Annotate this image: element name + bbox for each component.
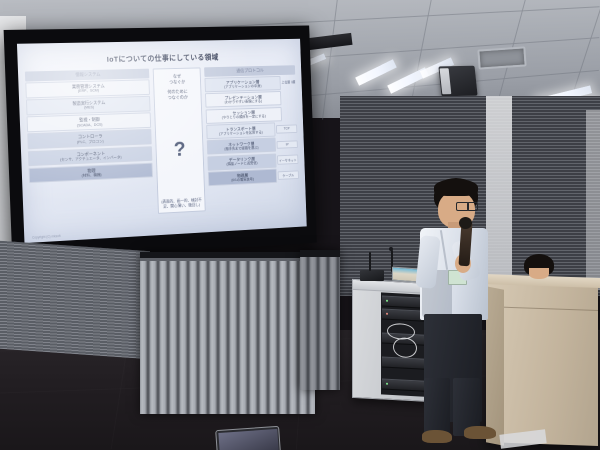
osi-row: アプリケーション層 (アプリケーションの中身) 上位層 3層 bbox=[204, 76, 295, 93]
ceiling-air-vent bbox=[477, 46, 526, 69]
osi-layer-desc: (アプリケーションの中身) bbox=[207, 83, 279, 89]
partition-header-track bbox=[300, 250, 340, 257]
osi-layer: データリンク層 (隣接ノードと送受信) bbox=[207, 153, 276, 170]
slide-middle-column: なぜ つなぐか 何のために つなぐのか ? (表面的、画一的、検討不足、関心薄い… bbox=[153, 67, 206, 213]
left-row: 物理 (材料、機器) bbox=[29, 162, 153, 183]
left-row: 業務管理システム (ERP、SCM) bbox=[25, 79, 150, 98]
middle-line-4: つなぐのか bbox=[168, 95, 188, 101]
middle-question-box: なぜ つなぐか 何のために つなぐのか ? (表面的、画一的、検討不足、関心薄い… bbox=[153, 67, 206, 213]
osi-protocol-tag: TCP bbox=[276, 125, 297, 134]
osi-layer: プレゼンテーション層 (わかりやすい表現にする) bbox=[205, 91, 281, 108]
seated-person bbox=[520, 254, 560, 284]
osi-brace-label: 上位層 3層 bbox=[281, 81, 295, 85]
rack-antenna-knob bbox=[389, 247, 393, 251]
left-row-sub: (ERP、SCM) bbox=[28, 87, 148, 95]
osi-protocol-tag: イーサネット bbox=[277, 155, 298, 165]
laptop-screen bbox=[218, 428, 278, 450]
projection-screen-surface: IoTについての仕事にしている領域 情報システム 業務管理システム (ERP、S… bbox=[17, 39, 307, 243]
osi-stack: 通信プロトコル アプリケーション層 (アプリケーションの中身) 上位層 3層 bbox=[204, 65, 300, 211]
slide-body: 情報システム 業務管理システム (ERP、SCM) 製造実行システム (MES)… bbox=[25, 65, 300, 221]
osi-layer-desc: (隣接ノードと送受信) bbox=[209, 161, 274, 168]
osi-layer-desc: (アプリケーションを区別する) bbox=[208, 130, 273, 137]
osi-layer: ネットワーク層 (相手先まで経路を選ぶ) bbox=[207, 138, 276, 155]
seated-person-head bbox=[529, 268, 549, 279]
glasses-icon bbox=[467, 202, 478, 211]
osi-layer: セッション層 (やりとりの順序を一定にする) bbox=[206, 107, 282, 124]
question-mark-icon: ? bbox=[173, 139, 186, 160]
osi-layer-desc: (相手先まで経路を選ぶ) bbox=[209, 145, 274, 152]
presenter-shoe bbox=[464, 426, 496, 439]
rack-antenna bbox=[369, 252, 371, 271]
osi-layer-desc: (0/1の電気信号) bbox=[210, 176, 275, 183]
partition-slats bbox=[300, 257, 340, 390]
speaker-face bbox=[440, 68, 452, 94]
middle-line-2: つなぐか bbox=[167, 79, 187, 85]
ceiling-speaker bbox=[438, 66, 477, 96]
slide-footer: Copyright (C) mksoft bbox=[32, 234, 61, 240]
slide-right-column: 通信プロトコル アプリケーション層 (アプリケーションの中身) 上位層 3層 bbox=[204, 65, 300, 211]
wall-right-edge bbox=[586, 110, 600, 290]
osi-layer: アプリケーション層 (アプリケーションの中身) bbox=[204, 76, 280, 92]
accordion-partition-wall[interactable] bbox=[140, 252, 315, 414]
rack-top-device[interactable] bbox=[360, 270, 384, 281]
middle-note: (表面的、画一的、検討不足、関心薄い、後回し) bbox=[160, 197, 203, 209]
presentation-photo-scene: IoTについての仕事にしている領域 情報システム 業務管理システム (ERP、S… bbox=[0, 0, 600, 450]
osi-protocol-tag: IP bbox=[277, 140, 298, 149]
osi-layer: 物理層 (0/1の電気信号) bbox=[208, 169, 277, 186]
accordion-partition-wall-right[interactable] bbox=[300, 250, 340, 390]
middle-question-top: なぜ つなぐか 何のために つなぐのか bbox=[167, 74, 188, 101]
left-row-sub: (SCADA、DCS) bbox=[29, 121, 149, 130]
osi-layer-desc: (わかりやすい表現にする) bbox=[207, 99, 279, 105]
presenter-shoe bbox=[422, 430, 452, 443]
slide-left-column: 情報システム 業務管理システム (ERP、SCM) 製造実行システム (MES)… bbox=[25, 69, 154, 221]
wall-left-louver-panel bbox=[0, 241, 150, 359]
slide-content: IoTについての仕事にしている領域 情報システム 業務管理システム (ERP、S… bbox=[17, 39, 307, 243]
left-row-sub: (PLC、プロコン) bbox=[29, 137, 149, 146]
wall-louver-texture bbox=[0, 241, 150, 359]
osi-layer-desc: (やりとりの順序を一定にする) bbox=[208, 114, 280, 121]
microphone-head bbox=[459, 217, 472, 229]
projection-screen-frame: IoTについての仕事にしている領域 情報システム 業務管理システム (ERP、S… bbox=[4, 25, 317, 261]
presenter-hair-front bbox=[434, 179, 478, 196]
osi-row: プレゼンテーション層 (わかりやすい表現にする) bbox=[205, 91, 296, 108]
osi-row: セッション層 (やりとりの順序を一定にする) bbox=[206, 106, 297, 123]
laptop-on-floor[interactable] bbox=[215, 426, 281, 450]
osi-row: 物理層 (0/1の電気信号) ケーブル bbox=[208, 168, 299, 186]
left-row-sub: (MES) bbox=[28, 104, 148, 112]
slide-title: IoTについての仕事にしている領域 bbox=[24, 50, 294, 66]
osi-layer: トランスポート層 (アプリケーションを区別する) bbox=[206, 122, 275, 139]
osi-protocol-tag: ケーブル bbox=[278, 170, 299, 180]
partition-slats bbox=[140, 261, 315, 414]
presenter bbox=[398, 178, 508, 450]
